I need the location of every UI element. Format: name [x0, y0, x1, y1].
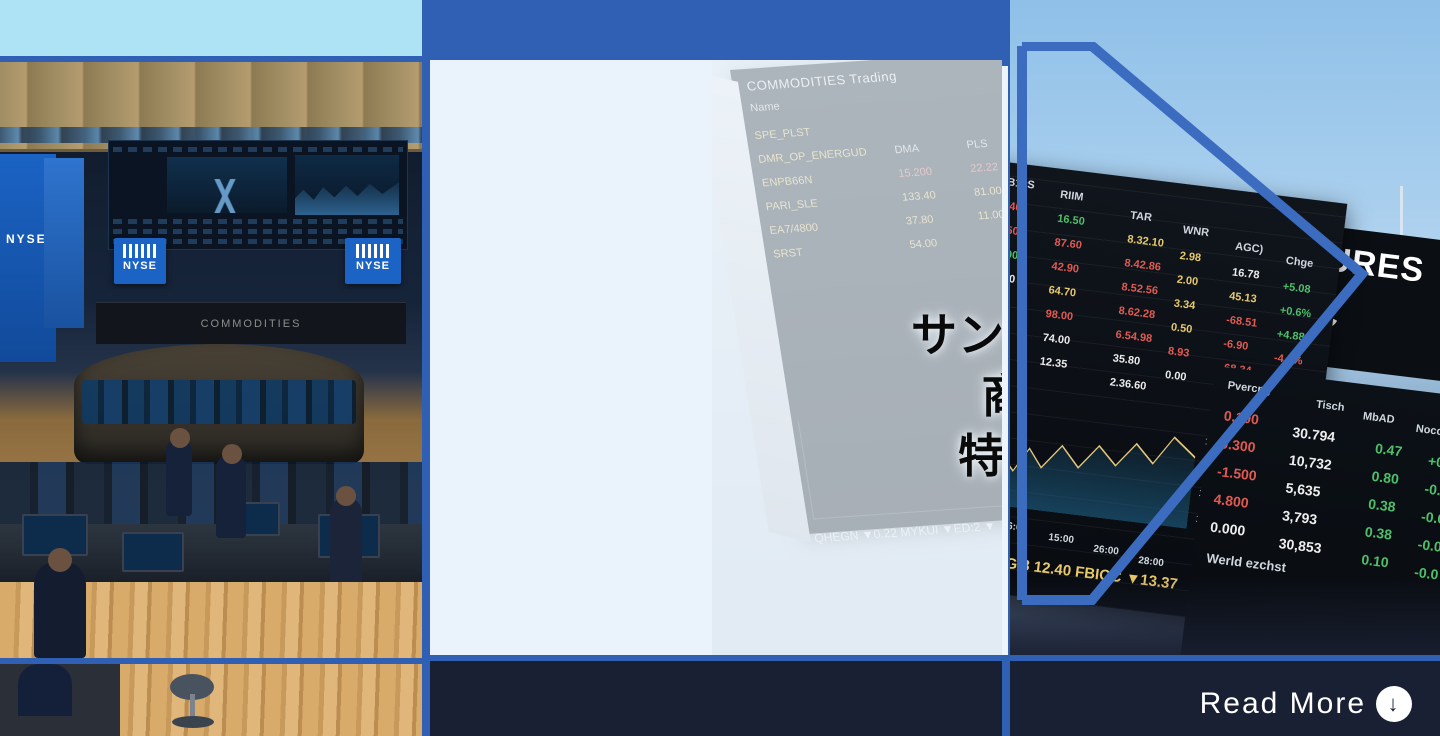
chart-x-tick: 16:00 [1010, 520, 1028, 534]
ticker2-col-header: Tisch [1315, 399, 1345, 414]
ticker-cell: 13.00 [1010, 247, 1019, 262]
board-chart-left [167, 157, 287, 213]
ticker2-cell: 30,853 [1278, 535, 1322, 556]
ticker2-footer: Werld ezchst [1206, 550, 1287, 575]
ticker2-cell: -0.0 [1420, 508, 1440, 527]
page-title: サンワード証券とは？ 商品先物特化の 特徴と評判を解説 [860, 305, 1002, 487]
trader-head [222, 444, 242, 464]
nyse-trading-floor-photo: NYSE NYSE COMMODITIES [0, 62, 422, 658]
board-subheader: Name [749, 101, 780, 115]
ticker2-cell: 4.800 [1213, 491, 1250, 511]
ticker-cell: 0.50 [1170, 321, 1193, 336]
ticker-cell: -2.50 [1010, 223, 1019, 238]
board-value: 37.80 [905, 214, 934, 228]
trader-figure [330, 498, 362, 588]
board-row-name: SRST [772, 247, 803, 261]
board-value: 133.40 [901, 189, 937, 203]
pit-screens [82, 380, 356, 424]
trader-figure [166, 438, 192, 516]
nyse-sign-right: NYSE [345, 238, 401, 284]
title-line-3: 特徴と評判を解説 [860, 426, 1002, 487]
board-col-dma: DMA [894, 143, 920, 157]
board-value: 54.00 [909, 237, 938, 251]
trader-head [170, 428, 190, 448]
board-value: 11.00 [977, 209, 1002, 223]
ticker-cell: 0.00 [1164, 369, 1187, 384]
ticker2-col-header: MbAD [1362, 410, 1395, 426]
board-col-pls: PLS [966, 138, 989, 151]
ticker2-cell: 0.38 [1364, 523, 1393, 542]
ticker2-cell: +0.1 [1427, 453, 1440, 472]
ticker2-cell: 30.794 [1292, 424, 1336, 445]
board-row-name: DMR_OP_ENERGUD [757, 146, 867, 165]
arrow-down-glyph: ↓ [1388, 693, 1401, 715]
trader-head [336, 486, 356, 506]
trader-monitor [122, 532, 184, 572]
ticker2-cell: 0.38 [1367, 496, 1396, 515]
right-panel-white-gutter [1002, 66, 1008, 658]
read-more-button[interactable]: Read More ↓ [1200, 686, 1412, 722]
nyse-sign-left: NYSE [114, 238, 166, 284]
ticker2-cell: -0.0 [1417, 536, 1440, 555]
ticker2-cell: 10,732 [1288, 452, 1332, 473]
board-value: 15.200 [897, 166, 933, 180]
ticker2-cell: -0.2 [1424, 480, 1440, 499]
title-line-1: サンワード証券とは？ [860, 305, 1002, 366]
title-line-2: 商品先物特化の [860, 366, 1002, 427]
trader-figure [216, 454, 246, 538]
ticker2-cell: 0.100 [1223, 407, 1260, 427]
left-top-accent-band [0, 0, 422, 56]
board-row-name: EA7/4800 [769, 222, 819, 237]
futures-exchange-photo: FUTURES LAC DB10S RIIM TAR WNR AGC) Chge… [1010, 0, 1440, 736]
ticker-cell: 8.93 [1167, 345, 1190, 360]
ticker2-cell: 0.80 [1371, 468, 1400, 487]
trader-head [48, 548, 72, 572]
ticker2-cell: 0.47 [1374, 440, 1403, 459]
board-header: COMMODITIES Trading [746, 68, 898, 93]
left-vertical-divider [422, 0, 430, 736]
board-chart-right [295, 155, 399, 215]
board-row-name: ENPB66N [761, 174, 813, 189]
board-row-name: SPE_PLST [754, 126, 812, 142]
ticker2-cell: 0.10 [1361, 551, 1390, 570]
trading-floor-scene: NYSE NYSE COMMODITIES [0, 62, 422, 658]
overhead-display-board [108, 140, 408, 250]
ticker2-cell: -1.500 [1216, 463, 1257, 484]
board-value: 22.22 [970, 161, 999, 175]
commodities-pit-label: COMMODITIES [96, 302, 406, 344]
arrow-down-circle-icon[interactable]: ↓ [1376, 686, 1412, 722]
ticker2-cell: 0.300 [1220, 435, 1257, 455]
ticker-cell: 2.00 [1176, 274, 1199, 289]
nyse-pillar-sign-secondary [44, 158, 84, 328]
trader-figure-foreground [34, 562, 86, 658]
nyse-floor-photo-bottom [0, 664, 422, 736]
ticker-col-header: TAR [1130, 210, 1153, 225]
board-row-name: PARI_SLE [765, 198, 819, 213]
read-more-label: Read More [1200, 687, 1366, 721]
ceiling-beams [0, 62, 422, 152]
ticker2-cell: 0.000 [1209, 519, 1246, 539]
center-content-panel: COMMODITIES Trading Name SPE_PLST DMR_OP… [430, 60, 1002, 655]
ticker2-cell: 3,793 [1281, 507, 1318, 527]
ticker2-col-header: Noccem [1415, 423, 1440, 440]
ticker-cell: -0.40 [1010, 199, 1022, 214]
ticker2-col-header: Pvercng [1227, 380, 1272, 397]
ticker2-cell: 5,635 [1285, 479, 1322, 499]
ticker-cell: 2.98 [1179, 250, 1202, 265]
banner-canvas: NYSE NYSE COMMODITIES [0, 0, 1440, 736]
board-value: 81.00 [973, 185, 1002, 199]
ticker-cell: 3.34 [1173, 298, 1196, 313]
bottom-bar-center [430, 661, 1002, 736]
